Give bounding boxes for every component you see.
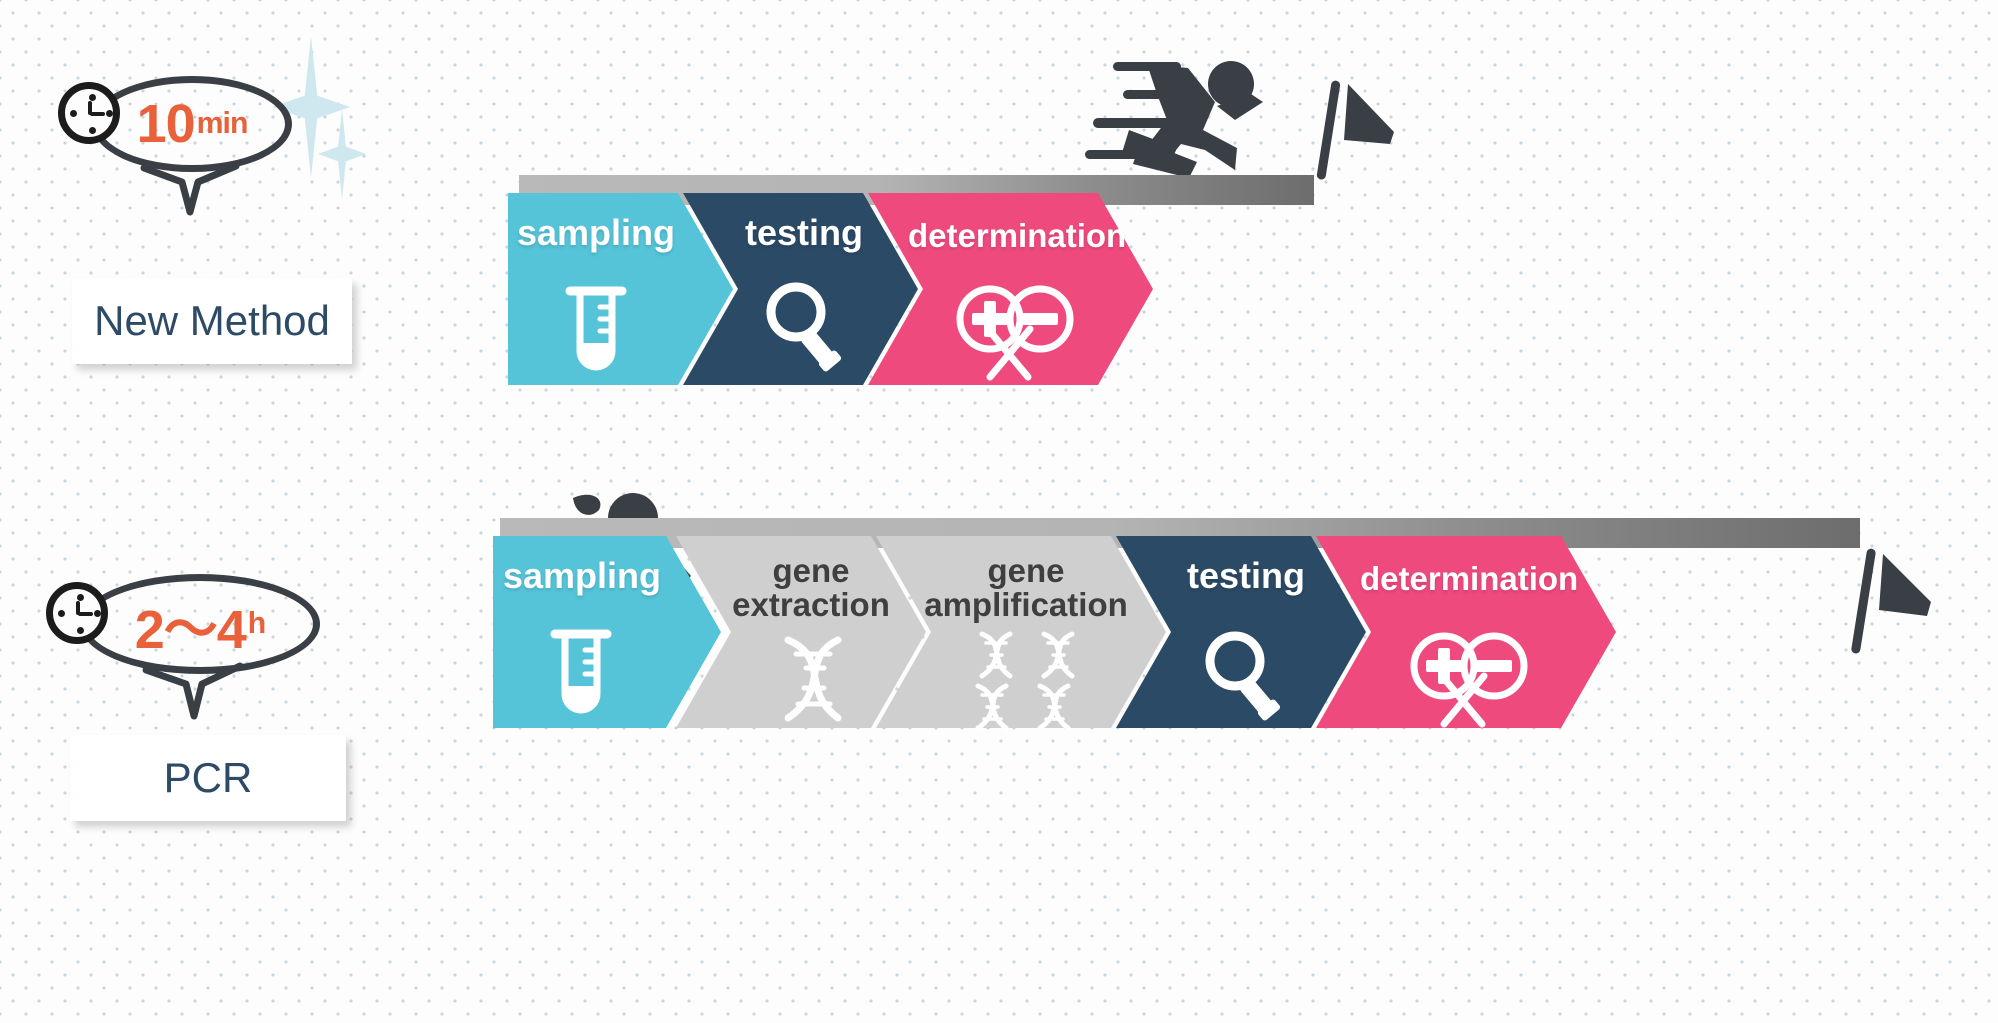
time-bubble-text-pcr: 2〜4h <box>80 574 320 674</box>
running-person-icon <box>1085 58 1285 183</box>
infographic-canvas: 10min New Method <box>0 0 1998 1023</box>
time-bubble-new-method: 10min <box>92 76 292 172</box>
time-value: 10 <box>137 93 195 155</box>
method-label-text: New Method <box>94 297 330 345</box>
finish-flag-icon-new-method <box>1318 78 1400 182</box>
finish-flag-icon-pcr <box>1853 546 1939 656</box>
dna-helix-multi-icon <box>976 632 1108 732</box>
step-label: gene amplification <box>918 554 1134 621</box>
dna-helix-icon <box>772 634 858 726</box>
clock-icon-pcr <box>46 582 108 644</box>
magnifying-glass-icon <box>763 279 849 371</box>
plus-minus-result-icon <box>948 277 1080 381</box>
time-bubble-pcr: 2〜4h <box>80 574 320 674</box>
bubble-tail-icon <box>142 664 242 728</box>
magnifying-glass-icon <box>1202 628 1288 720</box>
time-unit: h <box>248 607 265 641</box>
step-label: determination <box>1360 562 1575 596</box>
step-label: determination <box>908 219 1118 253</box>
step-label: testing <box>1156 558 1336 595</box>
plus-minus-result-icon <box>1402 624 1534 728</box>
method-label-card-new-method: New Method <box>72 278 352 364</box>
sparkle-small-icon <box>318 108 366 200</box>
method-label-card-pcr: PCR <box>70 735 346 821</box>
step-label: testing <box>719 215 889 252</box>
test-tube-icon <box>566 281 630 373</box>
test-tube-icon <box>551 624 615 716</box>
step-chevron-determination-1[interactable]: determination <box>868 193 1153 385</box>
method-label-text: PCR <box>164 754 253 802</box>
time-value: 2〜4 <box>135 585 246 664</box>
step-chevron-determination-2[interactable]: determination <box>1316 536 1616 728</box>
step-label: sampling <box>508 215 684 252</box>
step-label: sampling <box>493 558 671 595</box>
time-bubble-text-new-method: 10min <box>92 76 292 172</box>
bubble-tail-icon <box>140 164 230 224</box>
clock-icon-new-method <box>58 82 120 144</box>
time-unit: min <box>197 107 248 141</box>
